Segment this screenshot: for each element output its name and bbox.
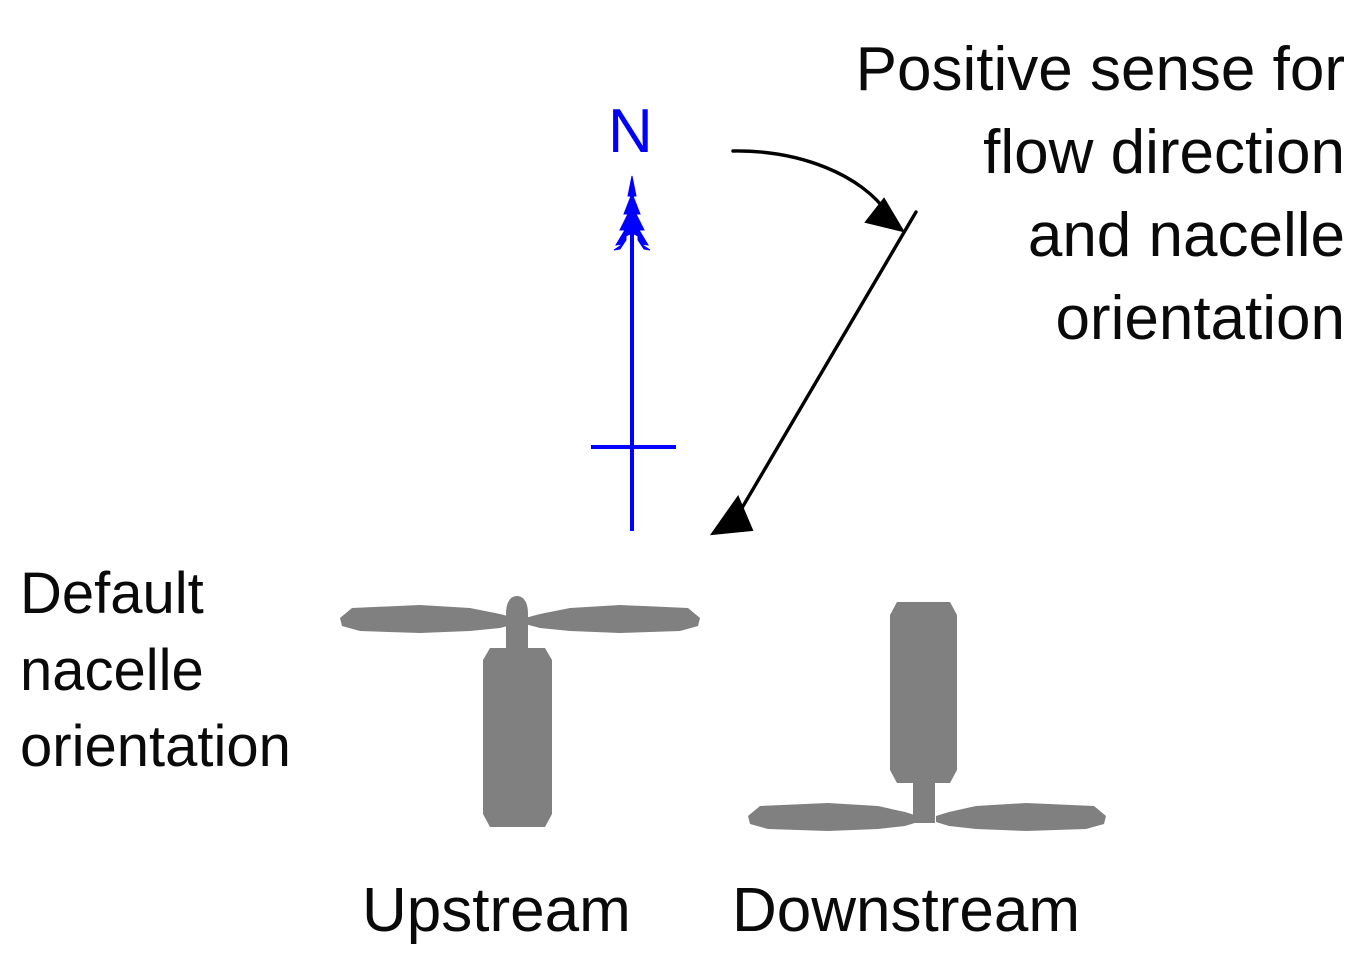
north-arrow-icon: [614, 176, 650, 531]
diagram-graphics-layer: [0, 0, 1371, 954]
double-headed-curved-arrow-icon: [712, 151, 916, 534]
turbine-upstream: [340, 596, 700, 827]
turbine-downstream: [748, 602, 1106, 831]
diagram-canvas: N Positive sense for flow direction and …: [0, 0, 1371, 954]
